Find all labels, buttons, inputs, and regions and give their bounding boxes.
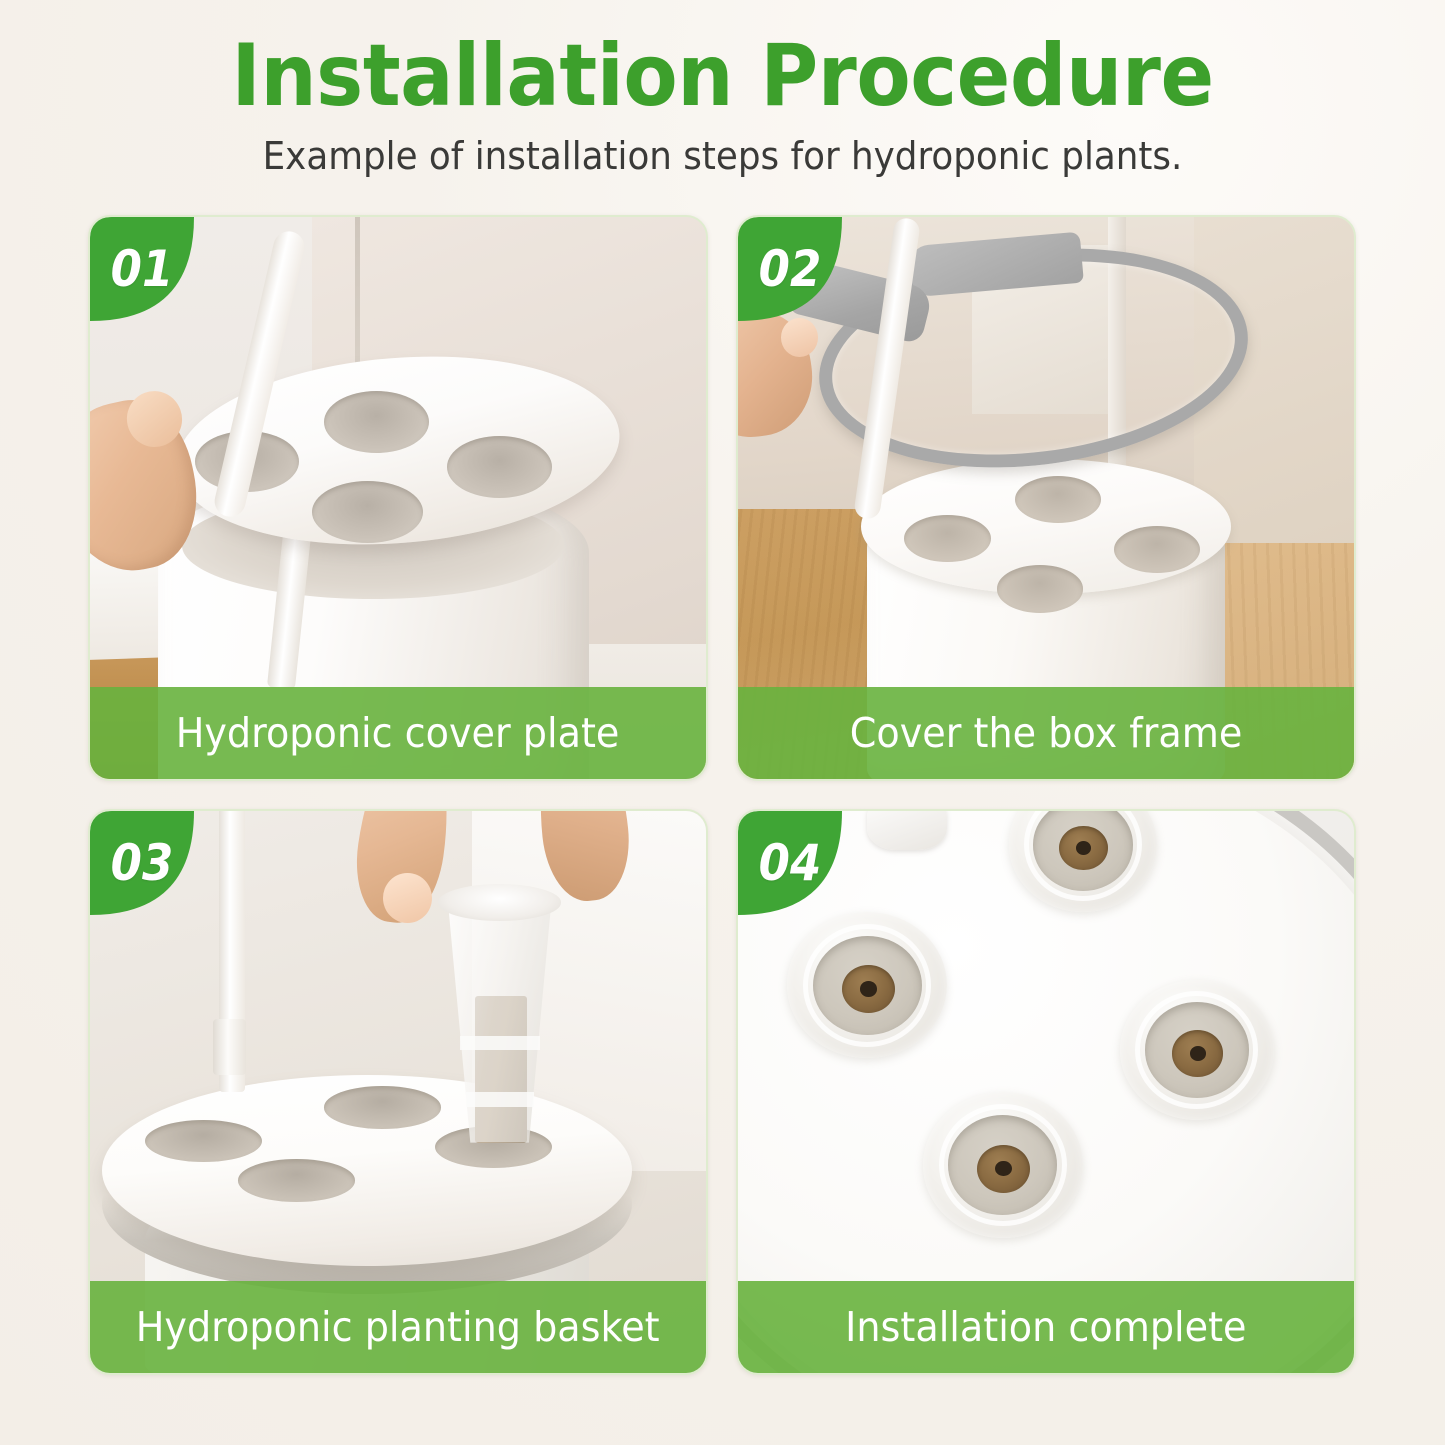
step-panel-02[interactable]: 02 Cover the box frame [736,215,1356,781]
header: Installation Procedure Example of instal… [0,0,1445,208]
step-caption-bar-02: Cover the box frame [738,687,1354,779]
step-badge-icon: 01 [90,217,212,339]
step-badge-icon: 03 [90,811,212,933]
step-caption-03: Hydroponic planting basket [136,1303,660,1351]
step-caption-01: Hydroponic cover plate [176,709,620,757]
page-subtitle: Example of installation steps for hydrop… [43,134,1401,178]
step-caption-bar-03: Hydroponic planting basket [90,1281,706,1373]
step-caption-04: Installation complete [845,1303,1246,1351]
step-badge-icon: 04 [738,811,860,933]
step-panel-03[interactable]: 03 Hydroponic planting basket [88,809,708,1375]
step-panel-01[interactable]: 01 Hydroponic cover plate [88,215,708,781]
steps-grid: 01 Hydroponic cover plate [88,215,1356,1375]
step-caption-02: Cover the box frame [850,709,1243,757]
step-panel-04[interactable]: 04 Installation complete [736,809,1356,1375]
page-title: Installation Procedure [58,34,1387,118]
step-caption-bar-01: Hydroponic cover plate [90,687,706,779]
step-caption-bar-04: Installation complete [738,1281,1354,1373]
